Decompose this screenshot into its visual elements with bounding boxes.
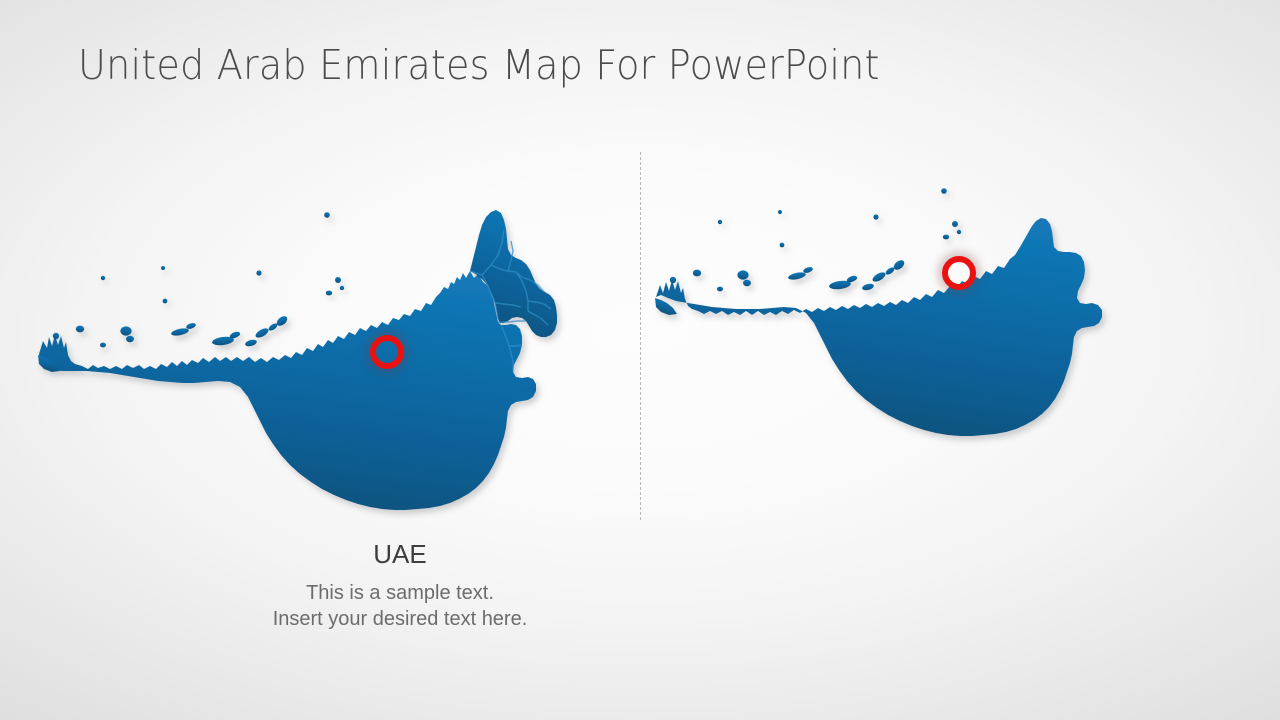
caption-line-2-abudhabi: Insert your desired text here. [1245, 606, 1280, 632]
panel-abudhabi: Abu Dhabi This is a sample text. Insert … [650, 185, 1250, 655]
caption-heading-abudhabi: Abu Dhabi [1245, 537, 1280, 569]
caption-line-1-uae: This is a sample text. [100, 580, 700, 606]
abu-dhabi-landmass [655, 188, 1102, 436]
caption-heading-uae: UAE [100, 537, 700, 571]
dubai-location-marker[interactable] [370, 335, 404, 369]
page-title: United Arab Emirates Map For PowerPoint [78, 41, 880, 89]
united-arab-emirates-map[interactable] [30, 185, 630, 525]
panel-divider [640, 152, 641, 520]
map-container-abudhabi [650, 185, 1250, 525]
caption-body-uae: This is a sample text. Insert your desir… [100, 580, 700, 632]
uae-landmass [38, 210, 557, 510]
caption-uae: UAE This is a sample text. Insert your d… [100, 537, 700, 632]
abu-dhabi-location-marker[interactable] [942, 256, 976, 290]
map-container-uae [30, 185, 630, 525]
abu-dhabi-emirate-map[interactable] [650, 185, 1250, 525]
slide-canvas: United Arab Emirates Map For PowerPoint [0, 0, 1280, 720]
caption-abudhabi: Abu Dhabi This is a sample text. Insert … [1245, 537, 1280, 632]
caption-body-abudhabi: This is a sample text. Insert your desir… [1245, 580, 1280, 632]
caption-line-2-uae: Insert your desired text here. [100, 606, 700, 632]
caption-line-1-abudhabi: This is a sample text. [1245, 580, 1280, 606]
panel-uae: UAE This is a sample text. Insert your d… [30, 185, 630, 655]
